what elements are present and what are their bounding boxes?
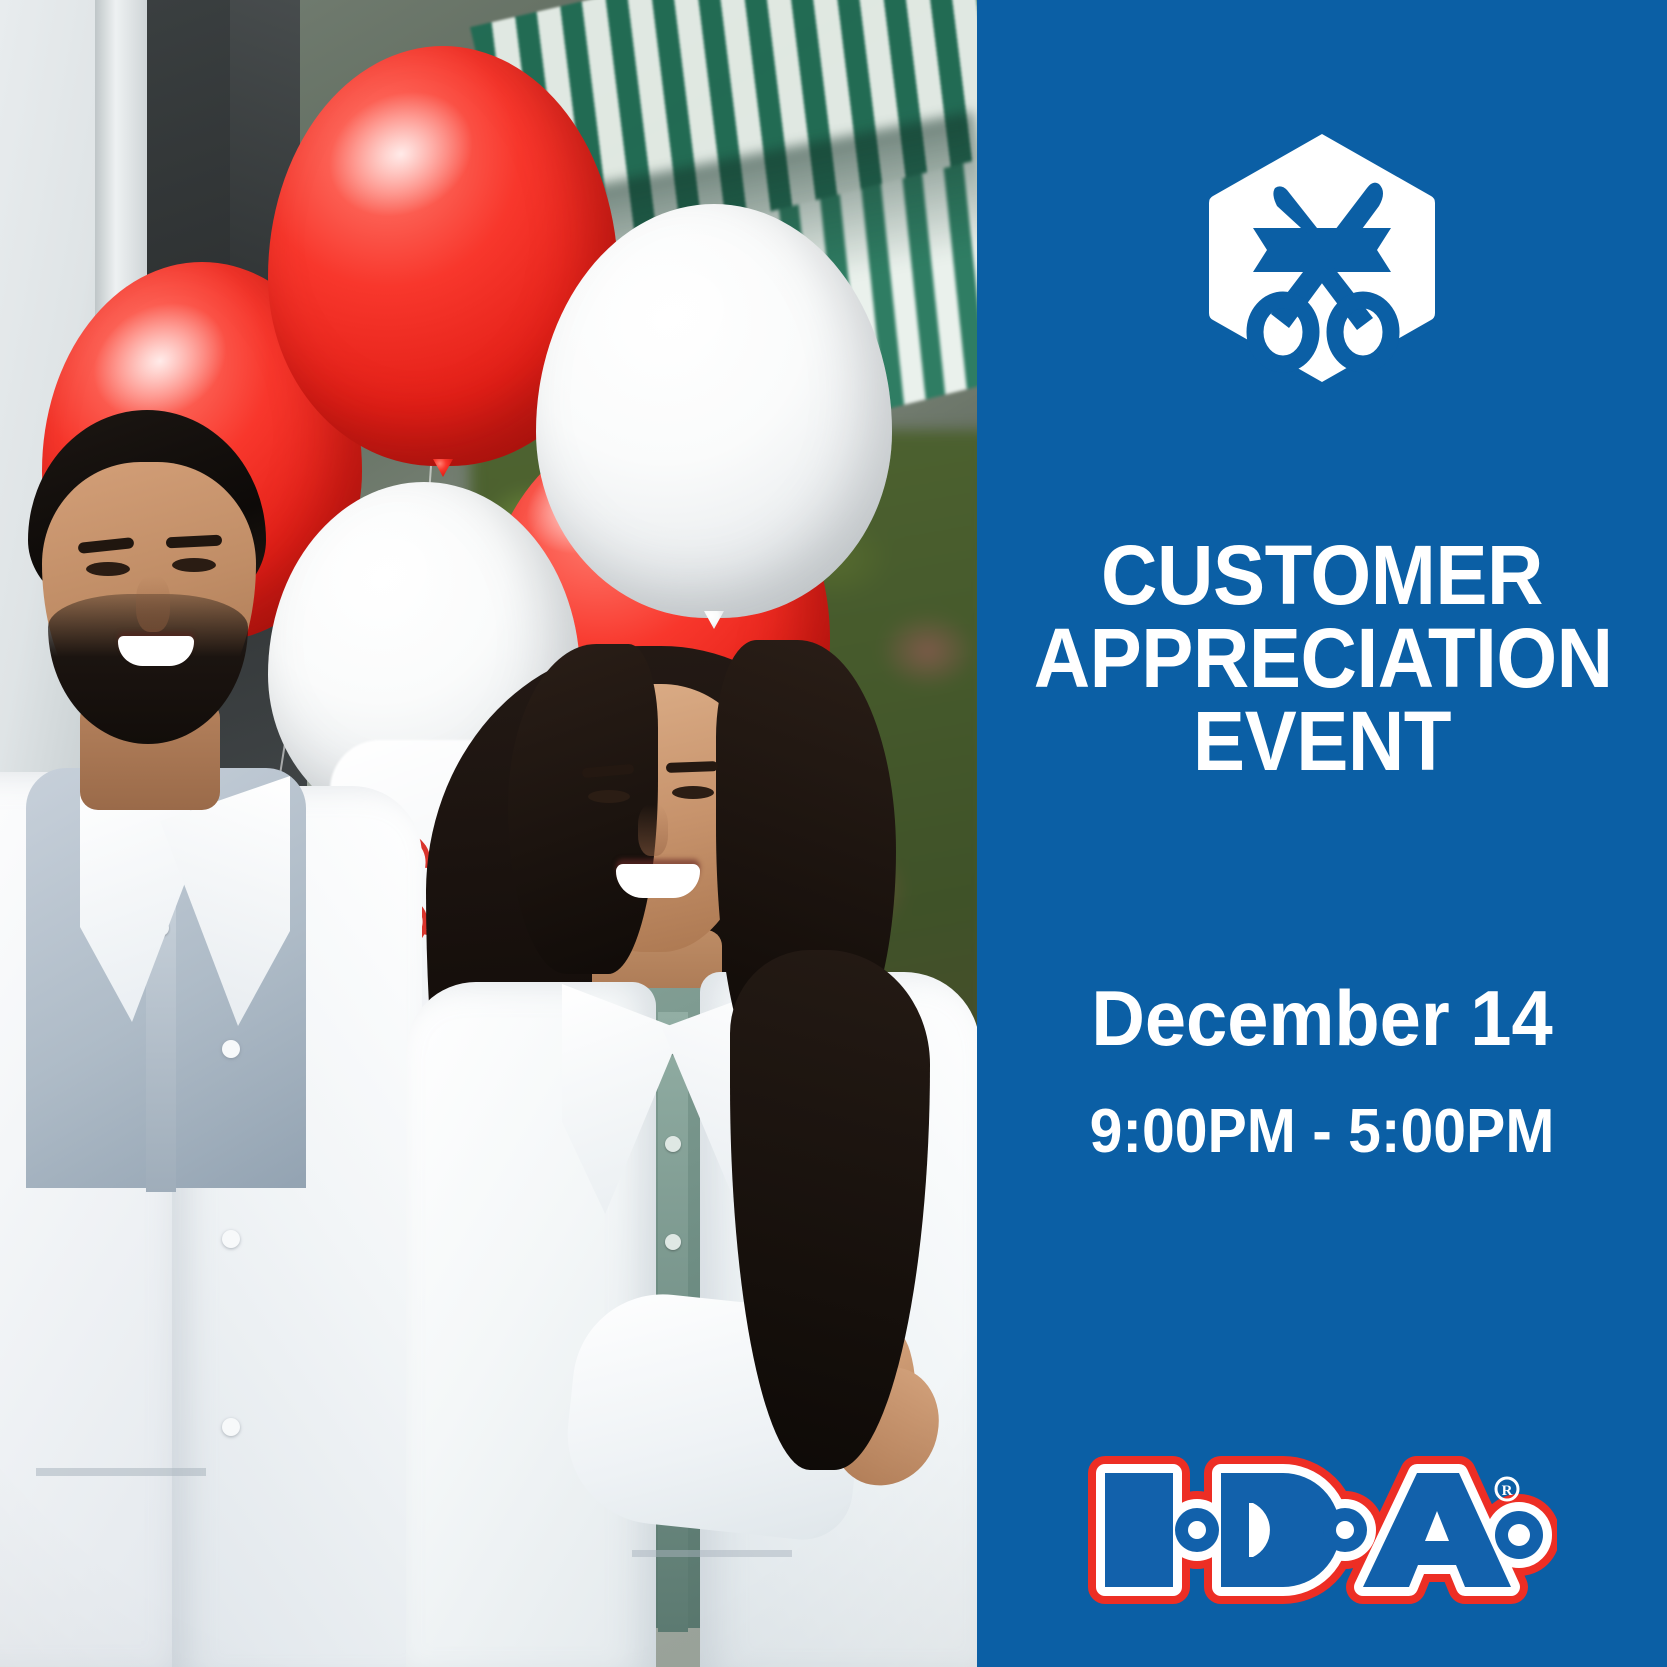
headline-line-1: CUSTOMER bbox=[1101, 528, 1543, 622]
balloon-highlight bbox=[580, 230, 767, 402]
event-date: December 14 bbox=[1028, 979, 1617, 1057]
lab-coat-pocket bbox=[632, 1550, 792, 1557]
event-photo bbox=[0, 0, 977, 1667]
svg-text:R: R bbox=[1502, 1483, 1513, 1499]
registered-trademark-icon: R bbox=[1496, 1478, 1518, 1500]
nose bbox=[136, 576, 170, 632]
headline-line-2: APPRECIATION bbox=[1034, 611, 1613, 705]
logo-dot-3 bbox=[1508, 1524, 1530, 1546]
eye bbox=[672, 786, 714, 799]
info-panel: CUSTOMER APPRECIATION EVENT December 14 … bbox=[977, 0, 1667, 1667]
ribbon-cutting-scissors-hex-icon bbox=[1207, 132, 1437, 384]
event-time: 9:00PM - 5:00PM bbox=[1028, 1101, 1617, 1163]
logo-dot-1 bbox=[1188, 1521, 1206, 1539]
eye bbox=[588, 790, 630, 803]
lab-coat-button bbox=[222, 1418, 240, 1436]
smile bbox=[118, 636, 194, 666]
female-pharmacist bbox=[400, 620, 977, 1667]
eye bbox=[172, 558, 216, 572]
lab-coat-button bbox=[222, 1040, 240, 1058]
eye bbox=[86, 562, 130, 576]
page-title: CUSTOMER APPRECIATION EVENT bbox=[1034, 534, 1611, 783]
balloon-highlight bbox=[308, 68, 495, 240]
promotional-poster: CUSTOMER APPRECIATION EVENT December 14 … bbox=[0, 0, 1667, 1667]
logo-dot-2 bbox=[1336, 1521, 1354, 1539]
headline-line-3: EVENT bbox=[1193, 694, 1451, 788]
lab-coat-button bbox=[222, 1230, 240, 1248]
eyebrow bbox=[666, 761, 718, 773]
ida-pharmacy-logo: R bbox=[1087, 1455, 1557, 1605]
blouse-button bbox=[665, 1234, 681, 1250]
lab-coat-pocket bbox=[36, 1468, 206, 1476]
smile bbox=[616, 864, 700, 898]
nose bbox=[638, 804, 668, 856]
blouse-button bbox=[665, 1136, 681, 1152]
